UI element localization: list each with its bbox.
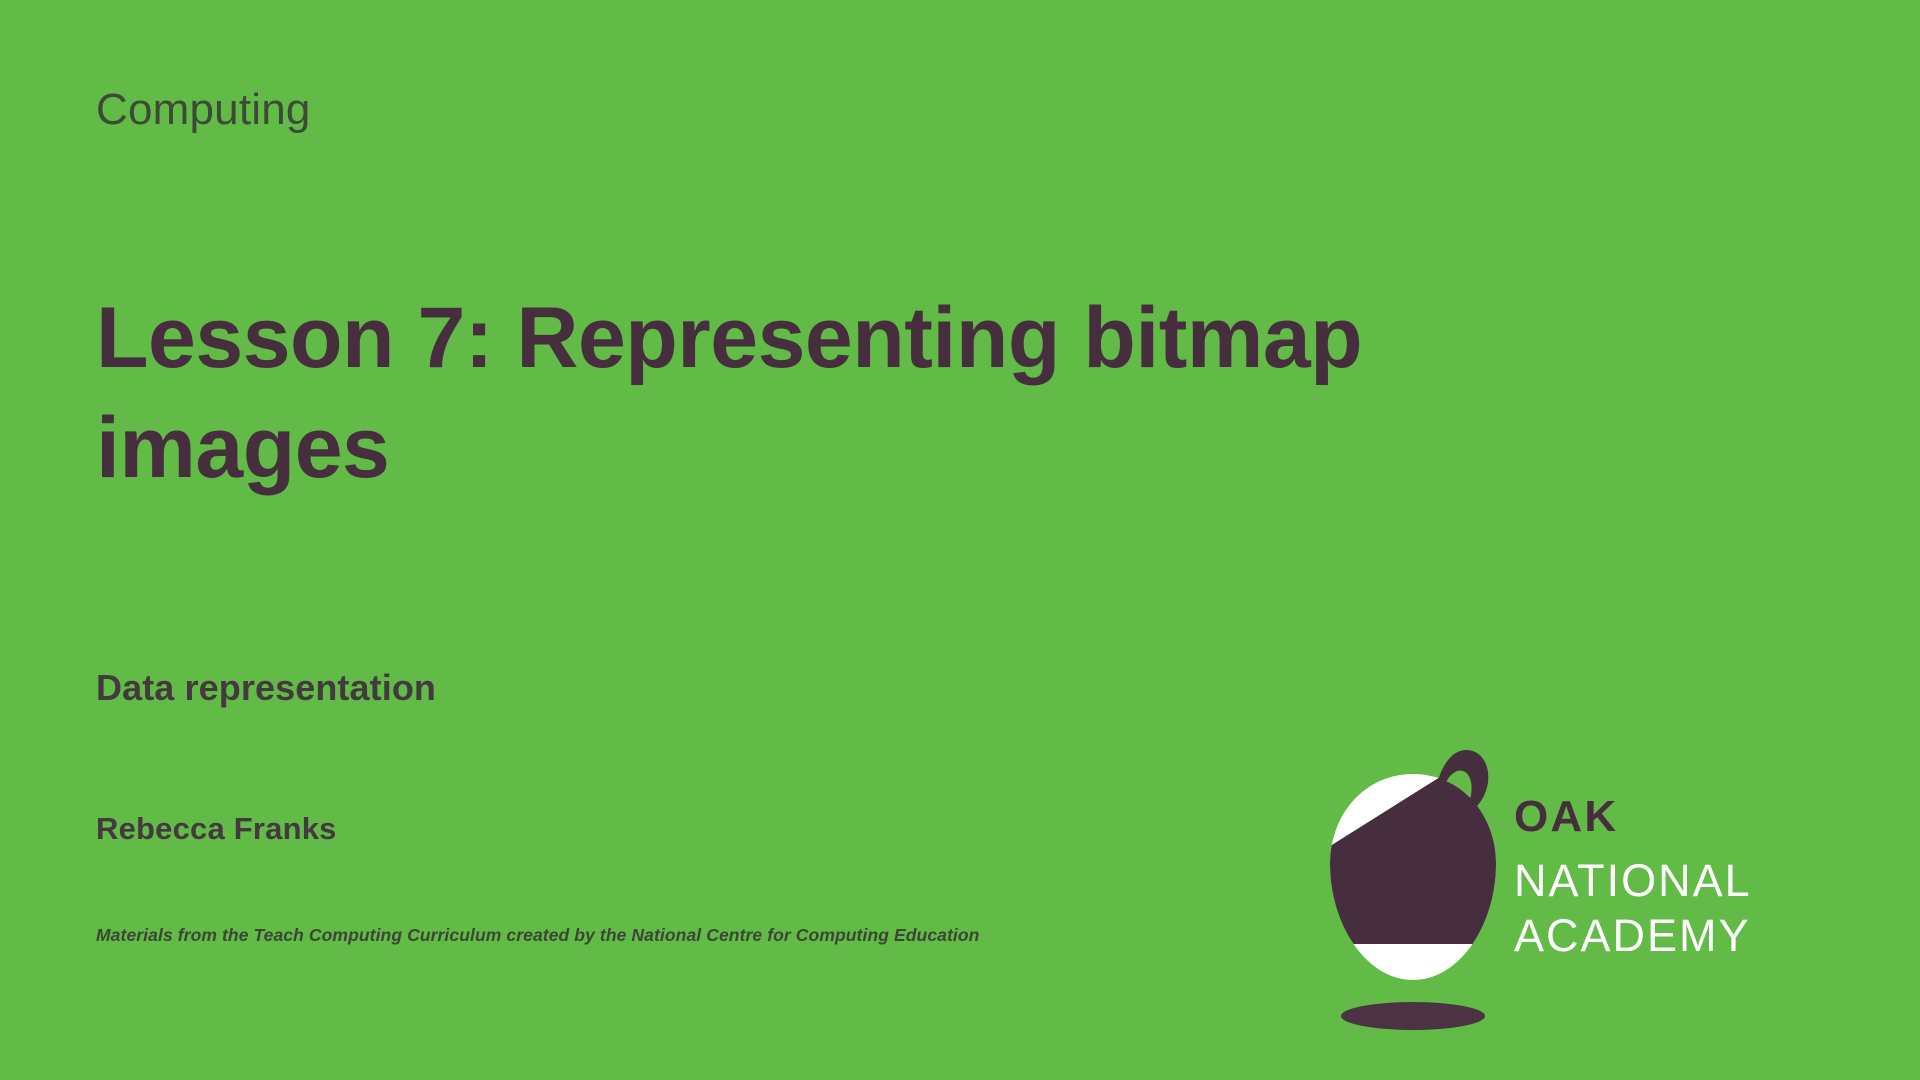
logo-text-academy: ACADEMY — [1514, 909, 1858, 964]
lesson-title: Lesson 7: Representing bitmap images — [96, 283, 1656, 503]
logo-text-national: NATIONAL — [1514, 854, 1858, 909]
author-name: Rebecca Franks — [96, 811, 337, 847]
acorn-shadow — [1341, 1002, 1485, 1030]
attribution-note: Materials from the Teach Computing Curri… — [96, 925, 979, 946]
unit-subtitle: Data representation — [96, 667, 436, 709]
subject-label: Computing — [96, 84, 311, 137]
acorn-icon — [1318, 748, 1508, 1038]
oak-national-academy-logo: OAK NATIONAL ACADEMY — [1318, 748, 1858, 1038]
logo-wordmark: OAK NATIONAL ACADEMY — [1514, 795, 1858, 964]
logo-text-oak: OAK — [1514, 795, 1858, 839]
lesson-title-slide: Computing Lesson 7: Representing bitmap … — [0, 0, 1920, 1080]
